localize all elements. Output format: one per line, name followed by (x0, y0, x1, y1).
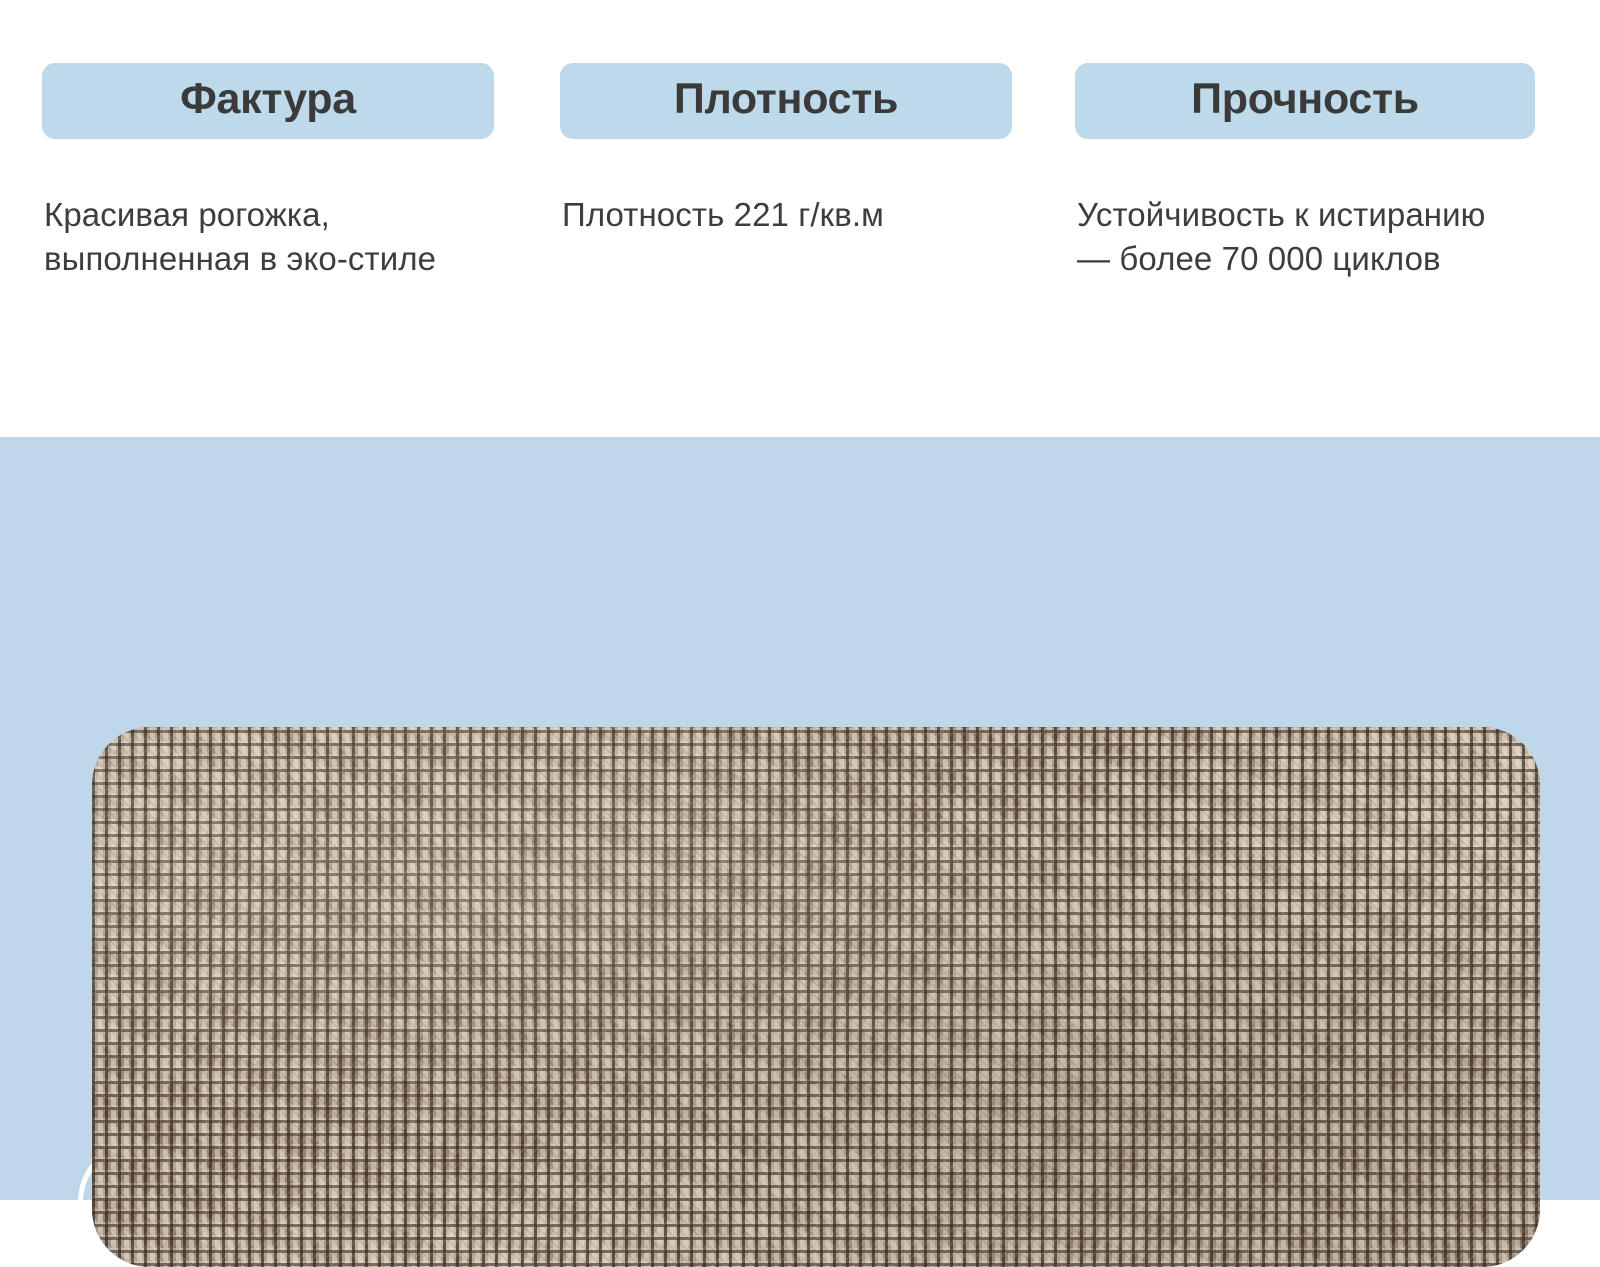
feature-description-prochnost: Устойчивость к истиранию — более 70 000 … (1077, 193, 1497, 281)
fabric-swatch-image (92, 727, 1540, 1267)
feature-badge-faktura: Фактура (42, 63, 494, 139)
feature-description-faktura: Красивая рогожка, выполненная в эко-стил… (44, 193, 454, 281)
feature-badge-label: Прочность (1191, 78, 1419, 121)
feature-badge-label: Плотность (674, 78, 898, 121)
feature-description-plotnost: Плотность 221 г/кв.м (562, 193, 1032, 237)
feature-badge-label: Фактура (180, 78, 356, 121)
features-section: Фактура Красивая рогожка, выполненная в … (0, 0, 1600, 437)
feature-badge-plotnost: Плотность (560, 63, 1012, 139)
fabric-texture-shading (92, 727, 1540, 1267)
feature-badge-prochnost: Прочность (1075, 63, 1535, 139)
